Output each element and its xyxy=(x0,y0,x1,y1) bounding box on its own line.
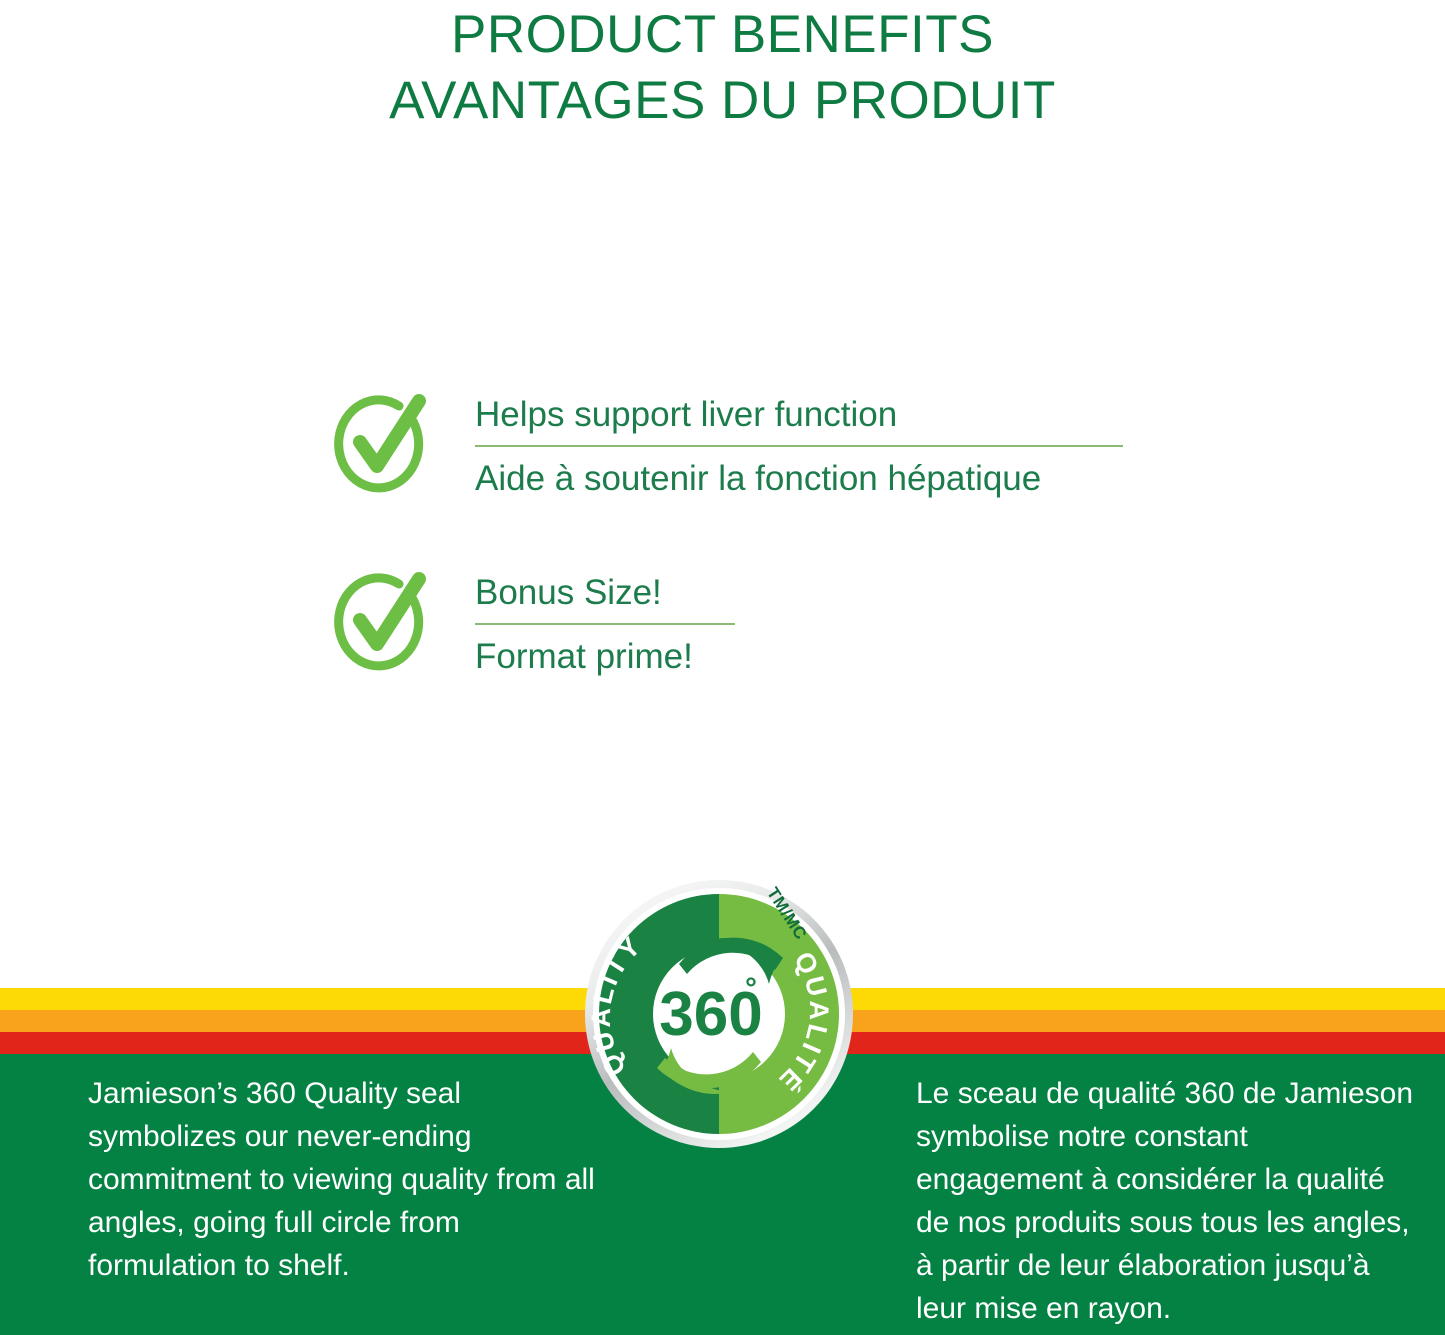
benefits-list: Helps support liver function Aide à sout… xyxy=(333,386,1233,742)
page-title-fr: AVANTAGES DU PRODUIT xyxy=(0,68,1445,134)
quality-360-seal: QUALITY QUALITÉ 360 ° TM/MC xyxy=(583,878,855,1150)
benefit-item: Helps support liver function Aide à sout… xyxy=(333,386,1233,502)
footer-copy-fr: Le sceau de qualité 360 de Jamieson symb… xyxy=(916,1072,1421,1330)
benefit-item: Bonus Size! Format prime! xyxy=(333,564,1233,680)
benefit-label-en: Bonus Size! xyxy=(475,570,1233,623)
benefit-label-en: Helps support liver function xyxy=(475,392,1233,445)
footer-copy-en: Jamieson’s 360 Quality seal symbolizes o… xyxy=(88,1072,608,1287)
seal-degree-symbol: ° xyxy=(745,972,757,1005)
page-title-en: PRODUCT BENEFITS xyxy=(0,2,1445,68)
benefit-text: Helps support liver function Aide à sout… xyxy=(433,386,1233,502)
page-title: PRODUCT BENEFITS AVANTAGES DU PRODUIT xyxy=(0,0,1445,134)
check-circle-icon xyxy=(333,568,433,672)
benefit-label-fr: Aide à soutenir la fonction hépatique xyxy=(475,447,1233,502)
check-circle-icon xyxy=(333,390,433,494)
product-benefits-panel: PRODUCT BENEFITS AVANTAGES DU PRODUIT He… xyxy=(0,0,1445,1335)
benefit-text: Bonus Size! Format prime! xyxy=(433,564,1233,680)
benefit-label-fr: Format prime! xyxy=(475,625,1233,680)
